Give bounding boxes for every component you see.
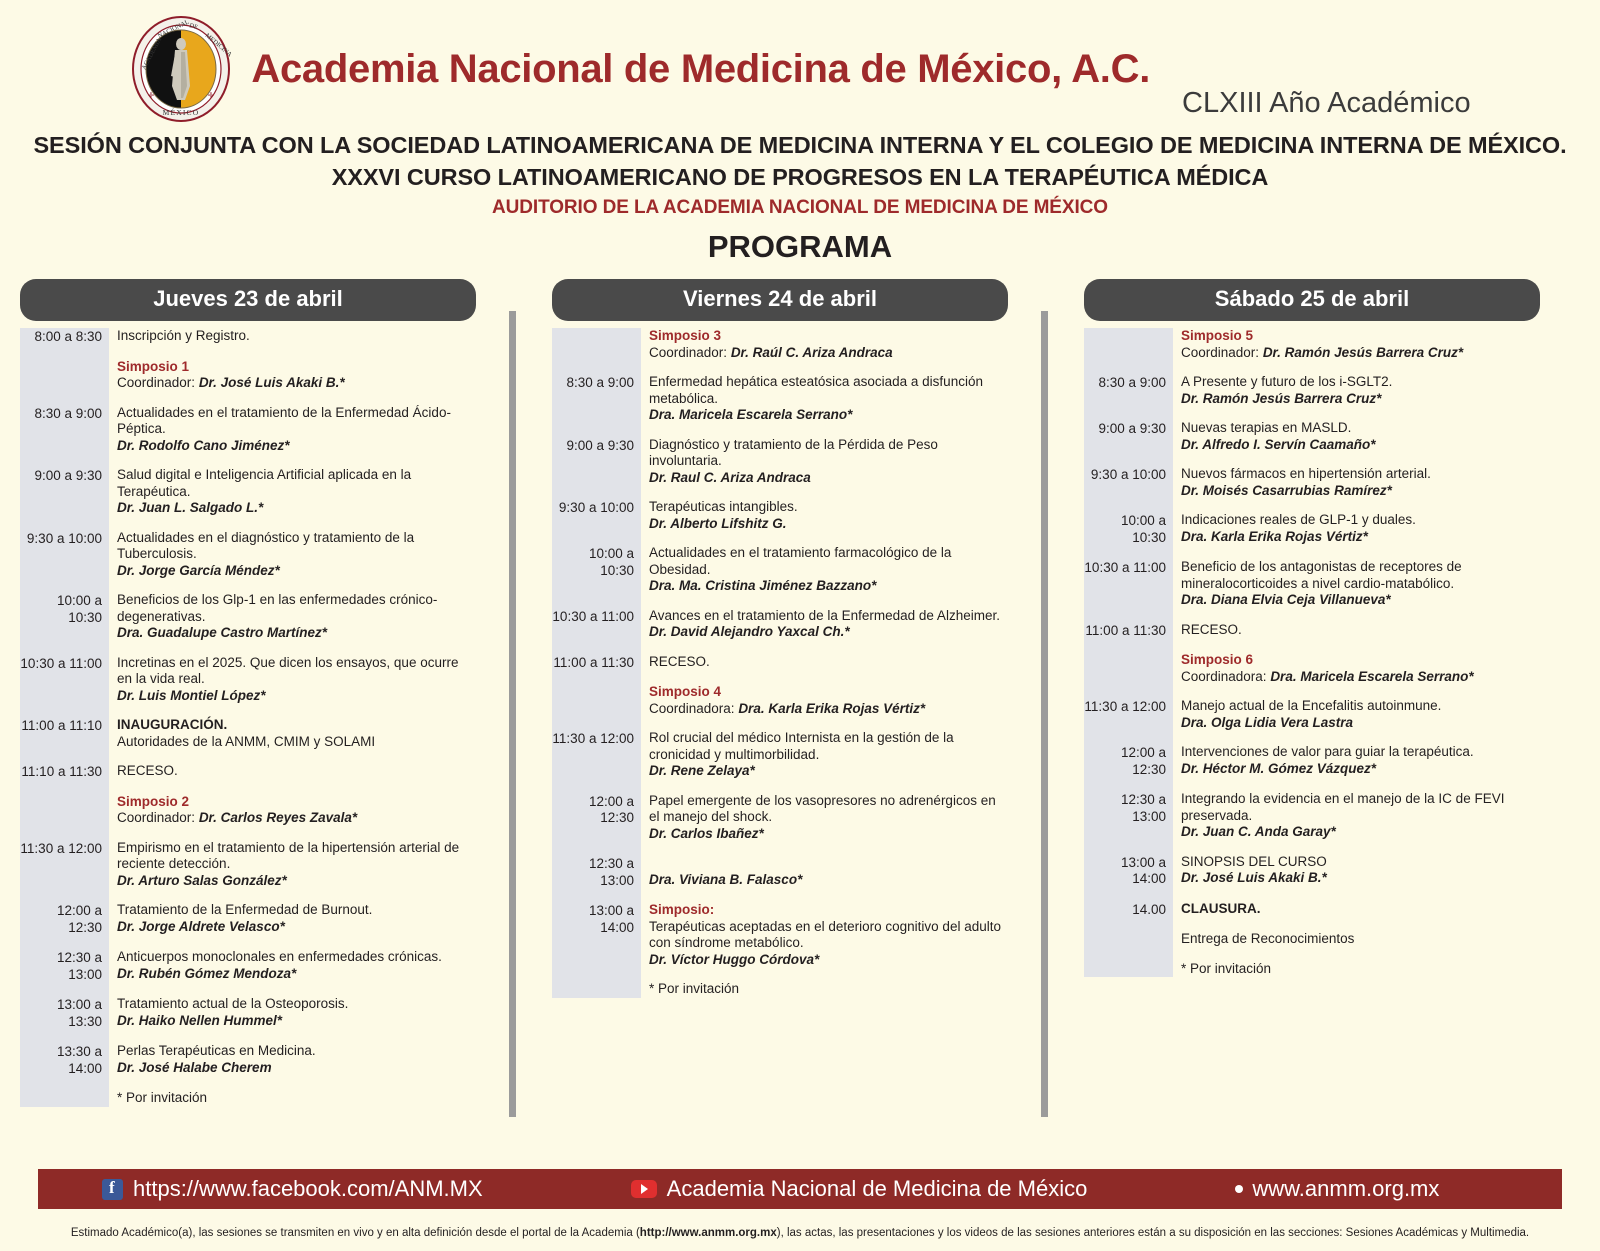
row-description: Nuevas terapias en MASLD.Dr. Alfredo I. … (1173, 420, 1540, 453)
coordinator-name: Dr. Carlos Reyes Zavala* (199, 810, 357, 825)
row-presenter: Dra. Olga Lidia Vera Lastra (1181, 715, 1540, 732)
schedule-row: 12:30 a 13:00Dra. Viviana B. Falasco* (552, 855, 1008, 889)
coordinator-line: Coordinador: Dr. Raúl C. Ariza Andraca (649, 345, 1008, 362)
footer-social-bar: https://www.facebook.com/ANM.MX Academia… (38, 1169, 1562, 1209)
simposio-label: Simposio 6 (1181, 652, 1540, 669)
schedule-row: 9:30 a 10:00Terapéuticas intangibles.Dr.… (552, 499, 1008, 532)
row-spacer (1084, 609, 1540, 622)
row-title: * Por invitación (117, 1090, 476, 1107)
row-title: Diagnóstico y tratamiento de la Pérdida … (649, 437, 1008, 470)
schedule-row: 12:30 a 13:00Integrando la evidencia en … (1084, 791, 1540, 841)
row-title-bold: INAUGURACIÓN. (117, 717, 476, 734)
row-time (552, 328, 641, 361)
row-description: Rol crucial del médico Internista en la … (641, 730, 1008, 780)
row-title-bold: CLAUSURA. (1181, 901, 1540, 918)
row-spacer (1084, 407, 1540, 420)
day-column-saturday: Sábado 25 de abril Simposio 5Coordinador… (1084, 279, 1540, 977)
row-title: Actualidades en el diagnóstico y tratami… (117, 530, 476, 563)
row-presenter: Dr. Juan L. Salgado L.* (117, 500, 476, 517)
row-presenter: Dra. Diana Elvia Ceja Villanueva* (1181, 592, 1540, 609)
row-presenter: Dr. Héctor M. Gómez Vázquez* (1181, 761, 1540, 778)
day-header-saturday: Sábado 25 de abril (1084, 279, 1540, 321)
schedule-row: 11:10 a 11:30RECESO. (20, 763, 476, 781)
row-description: Simposio 3Coordinador: Dr. Raúl C. Ariza… (641, 328, 1008, 361)
row-description: * Por invitación (109, 1090, 476, 1107)
row-time (1084, 961, 1173, 978)
row-spacer (552, 842, 1008, 855)
schedule-row: 10:30 a 11:00Beneficio de los antagonist… (1084, 559, 1540, 609)
schedule-row: Entrega de Reconocimientos (1084, 931, 1540, 948)
row-subtitle: Autoridades de la ANMM, CMIM y SOLAMI (117, 734, 476, 751)
row-title: Beneficios de los Glp-1 en las enfermeda… (117, 592, 476, 625)
row-description: Tratamiento de la Enfermedad de Burnout.… (109, 902, 476, 936)
row-spacer (1084, 918, 1540, 931)
row-time: 10:00 a 10:30 (20, 592, 109, 642)
row-spacer (20, 642, 476, 655)
row-time (20, 1090, 109, 1107)
row-presenter: Dr. Jorge Aldrete Velasco* (117, 919, 476, 936)
column-separator-1 (476, 279, 552, 1129)
schedule-row: 13:00 a 14:00Simposio:Terapéuticas acept… (552, 902, 1008, 968)
schedule-row: Simposio 5Coordinador: Dr. Ramón Jesús B… (1084, 328, 1540, 361)
row-description: Simposio:Terapéuticas aceptadas en el de… (641, 902, 1008, 968)
row-presenter: Dra. Maricela Escarela Serrano* (649, 407, 1008, 424)
row-presenter: Dr. Rubén Gómez Mendoza* (117, 966, 476, 983)
row-time: 9:00 a 9:30 (20, 467, 109, 517)
schedule-row: 8:00 a 8:30Inscripción y Registro. (20, 328, 476, 346)
row-title: Tratamiento de la Enfermedad de Burnout. (117, 902, 476, 919)
row-time: 11:30 a 12:00 (552, 730, 641, 780)
row-presenter: Dr. Víctor Huggo Córdova* (649, 952, 1008, 969)
session-line-1: SESIÓN CONJUNTA CON LA SOCIEDAD LATINOAM… (0, 132, 1600, 159)
row-title: Incretinas en el 2025. Que dicen los ens… (117, 655, 476, 688)
coordinator-name: Dra. Maricela Escarela Serrano* (1270, 669, 1473, 684)
simposio-label: Simposio 5 (1181, 328, 1540, 345)
row-description: Dra. Viviana B. Falasco* (641, 855, 1008, 889)
row-time: 10:00 a 10:30 (1084, 512, 1173, 546)
coordinator-name: Dr. José Luis Akaki B.* (199, 375, 345, 390)
simposio-label: Simposio 2 (117, 794, 476, 811)
row-description: RECESO. (109, 763, 476, 781)
schedule-row: 13:30 a 14:00Perlas Terapéuticas en Medi… (20, 1043, 476, 1077)
row-description: Actualidades en el tratamiento farmacoló… (641, 545, 1008, 595)
row-description: Papel emergente de los vasopresores no a… (641, 793, 1008, 843)
row-description: Beneficios de los Glp-1 en las enfermeda… (109, 592, 476, 642)
row-description: Entrega de Reconocimientos (1173, 931, 1540, 948)
row-presenter: Dr. Raul C. Ariza Andraca (649, 470, 1008, 487)
row-time: 9:30 a 10:00 (20, 530, 109, 580)
row-time: 12:30 a 13:00 (1084, 791, 1173, 841)
session-line-2: XXXVI CURSO LATINOAMERICANO DE PROGRESOS… (0, 164, 1600, 191)
row-description: RECESO. (1173, 622, 1540, 640)
schedule-row: 10:00 a 10:30Indicaciones reales de GLP-… (1084, 512, 1540, 546)
row-title: Terapéuticas intangibles. (649, 499, 1008, 516)
row-time: 13:00 a 13:30 (20, 996, 109, 1030)
row-description: Enfermedad hepática esteatósica asociada… (641, 374, 1008, 424)
row-spacer (1084, 888, 1540, 901)
row-spacer (20, 889, 476, 902)
simposio-label: Simposio 4 (649, 684, 1008, 701)
schedule-row: 12:30 a 13:00Anticuerpos monoclonales en… (20, 949, 476, 983)
row-presenter: Dr. Carlos Ibañez* (649, 826, 1008, 843)
row-spacer (1084, 685, 1540, 698)
day-header-thursday: Jueves 23 de abril (20, 279, 476, 321)
row-description: Avances en el tratamiento de la Enfermed… (641, 608, 1008, 641)
schedule-row: Simposio 4Coordinadora: Dra. Karla Erika… (552, 684, 1008, 717)
facebook-url: https://www.facebook.com/ANM.MX (133, 1176, 483, 1202)
row-description: Tratamiento actual de la Osteoporosis.Dr… (109, 996, 476, 1030)
row-time (552, 684, 641, 717)
row-title: Empirismo en el tratamiento de la hipert… (117, 840, 476, 873)
row-spacer (20, 1077, 476, 1090)
row-title: SINOPSIS DEL CURSO (1181, 854, 1540, 871)
row-time (552, 981, 641, 998)
row-time (1084, 652, 1173, 685)
row-title: RECESO. (649, 654, 1008, 671)
schedule-row: 11:30 a 12:00Rol crucial del médico Inte… (552, 730, 1008, 780)
schedule-row: 9:30 a 10:00Nuevos fármacos en hipertens… (1084, 466, 1540, 499)
row-time: 13:00 a 14:00 (1084, 854, 1173, 888)
row-description: RECESO. (641, 654, 1008, 672)
row-title: Indicaciones reales de GLP-1 y duales. (1181, 512, 1540, 529)
row-description: Incretinas en el 2025. Que dicen los ens… (109, 655, 476, 705)
row-title: * Por invitación (649, 981, 1008, 998)
schedule-row: 13:00 a 14:00SINOPSIS DEL CURSODr. José … (1084, 854, 1540, 888)
coordinator-line: Coordinador: Dr. Ramón Jesús Barrera Cru… (1181, 345, 1540, 362)
row-description: CLAUSURA. (1173, 901, 1540, 919)
row-time: 12:30 a 13:00 (552, 855, 641, 889)
coordinator-name: Dr. Raúl C. Ariza Andraca (731, 345, 893, 360)
youtube-label: Academia Nacional de Medicina de México (667, 1176, 1088, 1202)
row-spacer (20, 983, 476, 996)
row-presenter: Dr. José Luis Akaki B.* (1181, 870, 1540, 887)
row-description: Terapéuticas intangibles.Dr. Alberto Lif… (641, 499, 1008, 532)
row-time: 12:00 a 12:30 (552, 793, 641, 843)
row-time (20, 794, 109, 827)
schedule-row: Simposio 2Coordinador: Dr. Carlos Reyes … (20, 794, 476, 827)
bullet-dot-icon (1235, 1185, 1243, 1193)
coordinator-line: Coordinador: Dr. Carlos Reyes Zavala* (117, 810, 476, 827)
row-time (20, 359, 109, 392)
schedule-row: 9:00 a 9:30Salud digital e Inteligencia … (20, 467, 476, 517)
row-description: Simposio 4Coordinadora: Dra. Karla Erika… (641, 684, 1008, 717)
row-spacer (20, 1030, 476, 1043)
row-time: 12:00 a 12:30 (1084, 744, 1173, 778)
row-title: Salud digital e Inteligencia Artificial … (117, 467, 476, 500)
row-presenter: Dr. Rene Zelaya* (649, 763, 1008, 780)
schedule-row: 11:30 a 12:00Manejo actual de la Encefal… (1084, 698, 1540, 731)
row-time: 11:00 a 11:30 (552, 654, 641, 672)
schedule-row: 12:00 a 12:30Tratamiento de la Enfermeda… (20, 902, 476, 936)
row-presenter: Dr. Luis Montiel López* (117, 688, 476, 705)
row-spacer (552, 968, 1008, 981)
schedule-row: 10:00 a 10:30Actualidades en el tratamie… (552, 545, 1008, 595)
academy-seal-logo: MÉXICO ACADEMIA NACIONAL DE MEDICINA ✛ ✛ (129, 14, 233, 124)
row-description: Manejo actual de la Encefalitis autoinmu… (1173, 698, 1540, 731)
schedule-row: 8:30 a 9:00A Presente y futuro de los i-… (1084, 374, 1540, 407)
row-spacer (552, 486, 1008, 499)
schedule-row: * Por invitación (20, 1090, 476, 1107)
row-time: 8:30 a 9:00 (1084, 374, 1173, 407)
row-spacer (20, 454, 476, 467)
coordinator-line: Coordinadora: Dra. Karla Erika Rojas Vér… (649, 701, 1008, 718)
svg-text:✛: ✛ (208, 91, 215, 100)
row-time: 11:00 a 11:30 (1084, 622, 1173, 640)
schedule-row: Simposio 1Coordinador: Dr. José Luis Aka… (20, 359, 476, 392)
row-title: Avances en el tratamiento de la Enfermed… (649, 608, 1008, 625)
row-description: Nuevos fármacos en hipertensión arterial… (1173, 466, 1540, 499)
footer-youtube[interactable]: Academia Nacional de Medicina de México (631, 1176, 1088, 1202)
row-time: 13:00 a 14:00 (552, 902, 641, 968)
row-description: Empirismo en el tratamiento de la hipert… (109, 840, 476, 890)
row-title: Integrando la evidencia en el manejo de … (1181, 791, 1540, 824)
row-spacer (1084, 499, 1540, 512)
footer-website[interactable]: www.anmm.org.mx (1235, 1176, 1439, 1202)
row-description: Intervenciones de valor para guiar la te… (1173, 744, 1540, 778)
row-time: 13:30 a 14:00 (20, 1043, 109, 1077)
row-time: 11:30 a 12:00 (1084, 698, 1173, 731)
row-description: INAUGURACIÓN.Autoridades de la ANMM, CMI… (109, 717, 476, 750)
coordinator-name: Dr. Ramón Jesús Barrera Cruz* (1263, 345, 1463, 360)
simposio-label: Simposio 3 (649, 328, 1008, 345)
page-header: MÉXICO ACADEMIA NACIONAL DE MEDICINA ✛ ✛… (0, 0, 1600, 124)
page-title: PROGRAMA (0, 229, 1600, 265)
row-time: 14.00 (1084, 901, 1173, 919)
schedule-row: 8:30 a 9:00Enfermedad hepática esteatósi… (552, 374, 1008, 424)
schedule-row: 13:00 a 13:30Tratamiento actual de la Os… (20, 996, 476, 1030)
program-columns: Jueves 23 de abril 8:00 a 8:30Inscripció… (0, 279, 1600, 1129)
row-spacer (20, 750, 476, 763)
facebook-icon (102, 1179, 123, 1200)
schedule-row: 10:00 a 10:30Beneficios de los Glp-1 en … (20, 592, 476, 642)
row-title: Manejo actual de la Encefalitis autoinmu… (1181, 698, 1540, 715)
row-presenter: Dr. José Halabe Cherem (117, 1060, 476, 1077)
row-presenter: Dr. Juan C. Anda Garay* (1181, 824, 1540, 841)
youtube-icon (631, 1180, 657, 1198)
row-title: Intervenciones de valor para guiar la te… (1181, 744, 1540, 761)
row-presenter: Dr. Alberto Lifshitz G. (649, 516, 1008, 533)
row-time: 10:30 a 11:00 (20, 655, 109, 705)
disclaimer-url: http://www.anmm.org.mx (640, 1227, 777, 1239)
row-time: 11:10 a 11:30 (20, 763, 109, 781)
row-title: * Por invitación (1181, 961, 1540, 978)
schedule-row: 11:00 a 11:10INAUGURACIÓN.Autoridades de… (20, 717, 476, 750)
row-description: Simposio 5Coordinador: Dr. Ramón Jesús B… (1173, 328, 1540, 361)
row-spacer (552, 717, 1008, 730)
coordinator-name: Dra. Karla Erika Rojas Vértiz* (738, 701, 925, 716)
schedule-row: 10:30 a 11:00Incretinas en el 2025. Que … (20, 655, 476, 705)
row-spacer (1084, 731, 1540, 744)
row-spacer (552, 595, 1008, 608)
schedule-list-saturday: Simposio 5Coordinador: Dr. Ramón Jesús B… (1084, 328, 1540, 977)
schedule-row: 14.00CLAUSURA. (1084, 901, 1540, 919)
row-presenter: Dr. Arturo Salas González* (117, 873, 476, 890)
disclaimer-part-c: ), las actas, las presentaciones y los v… (777, 1227, 1529, 1239)
row-time: 11:00 a 11:10 (20, 717, 109, 750)
coordinator-line: Coordinadora: Dra. Maricela Escarela Ser… (1181, 669, 1540, 686)
row-time: 8:30 a 9:00 (20, 405, 109, 455)
row-time (1084, 328, 1173, 361)
website-url: www.anmm.org.mx (1252, 1176, 1439, 1202)
row-spacer (552, 361, 1008, 374)
academy-name: Academia Nacional de Medicina de México,… (251, 47, 1150, 92)
row-title: Terapéuticas aceptadas en el deterioro c… (649, 919, 1008, 952)
row-title: Inscripción y Registro. (117, 328, 476, 345)
row-title: Nuevas terapias en MASLD. (1181, 420, 1540, 437)
row-description: Perlas Terapéuticas en Medicina.Dr. José… (109, 1043, 476, 1077)
row-time (1084, 931, 1173, 948)
row-time: 12:30 a 13:00 (20, 949, 109, 983)
academic-year: CLXIII Año Académico (1182, 87, 1471, 124)
row-time: 9:30 a 10:00 (1084, 466, 1173, 499)
row-spacer (20, 781, 476, 794)
row-description: Simposio 1Coordinador: Dr. José Luis Aka… (109, 359, 476, 392)
row-spacer (1084, 948, 1540, 961)
day-column-friday: Viernes 24 de abril Simposio 3Coordinado… (552, 279, 1008, 998)
row-spacer (20, 827, 476, 840)
row-title: RECESO. (117, 763, 476, 780)
row-spacer (20, 346, 476, 359)
row-title: Anticuerpos monoclonales en enfermedades… (117, 949, 476, 966)
row-spacer (1084, 361, 1540, 374)
row-description: Actualidades en el tratamiento de la Enf… (109, 405, 476, 455)
row-spacer (1084, 778, 1540, 791)
schedule-row: 11:30 a 12:00Empirismo en el tratamiento… (20, 840, 476, 890)
schedule-row: Simposio 3Coordinador: Dr. Raúl C. Ariza… (552, 328, 1008, 361)
row-description: * Por invitación (641, 981, 1008, 998)
simposio-label: Simposio: (649, 902, 1008, 919)
row-presenter: Dr. Rodolfo Cano Jiménez* (117, 438, 476, 455)
row-title: Beneficio de los antagonistas de recepto… (1181, 559, 1540, 592)
row-title: Papel emergente de los vasopresores no a… (649, 793, 1008, 826)
schedule-list-thursday: 8:00 a 8:30Inscripción y Registro.Simpos… (20, 328, 476, 1107)
schedule-row: * Por invitación (1084, 961, 1540, 978)
row-title: Entrega de Reconocimientos (1181, 931, 1540, 948)
day-column-thursday: Jueves 23 de abril 8:00 a 8:30Inscripció… (20, 279, 476, 1107)
row-description: Diagnóstico y tratamiento de la Pérdida … (641, 437, 1008, 487)
row-presenter: Dr. Ramón Jesús Barrera Cruz* (1181, 391, 1540, 408)
row-description: * Por invitación (1173, 961, 1540, 978)
row-title: A Presente y futuro de los i-SGLT2. (1181, 374, 1540, 391)
row-time: 10:30 a 11:00 (552, 608, 641, 641)
row-spacer (552, 532, 1008, 545)
svg-text:MÉXICO: MÉXICO (163, 107, 200, 117)
schedule-row: 12:00 a 12:30Intervenciones de valor par… (1084, 744, 1540, 778)
row-spacer (1084, 546, 1540, 559)
row-title: Tratamiento actual de la Osteoporosis. (117, 996, 476, 1013)
schedule-row: 11:00 a 11:30RECESO. (552, 654, 1008, 672)
row-spacer (552, 780, 1008, 793)
row-time: 12:00 a 12:30 (20, 902, 109, 936)
coordinator-line: Coordinador: Dr. José Luis Akaki B.* (117, 375, 476, 392)
schedule-row: 12:00 a 12:30Papel emergente de los vaso… (552, 793, 1008, 843)
row-presenter: Dra. Viviana B. Falasco* (649, 872, 1008, 889)
row-title: Nuevos fármacos en hipertensión arterial… (1181, 466, 1540, 483)
row-time: 11:30 a 12:00 (20, 840, 109, 890)
row-time: 8:30 a 9:00 (552, 374, 641, 424)
schedule-row: 11:00 a 11:30RECESO. (1084, 622, 1540, 640)
row-title: Rol crucial del médico Internista en la … (649, 730, 1008, 763)
row-spacer (1084, 453, 1540, 466)
schedule-row: Simposio 6Coordinadora: Dra. Maricela Es… (1084, 652, 1540, 685)
row-presenter: Dra. Ma. Cristina Jiménez Bazzano* (649, 578, 1008, 595)
row-title: RECESO. (1181, 622, 1540, 639)
schedule-row: 9:00 a 9:30Diagnóstico y tratamiento de … (552, 437, 1008, 487)
row-presenter: Dra. Guadalupe Castro Martínez* (117, 625, 476, 642)
row-spacer (20, 704, 476, 717)
row-description: Integrando la evidencia en el manejo de … (1173, 791, 1540, 841)
venue-line: AUDITORIO DE LA ACADEMIA NACIONAL DE MED… (0, 197, 1600, 219)
disclaimer-part-a: Estimado Académico(a), las sesiones se t… (71, 1227, 640, 1239)
row-presenter: Dra. Karla Erika Rojas Vértiz* (1181, 529, 1540, 546)
row-time: 9:00 a 9:30 (1084, 420, 1173, 453)
day-header-friday: Viernes 24 de abril (552, 279, 1008, 321)
schedule-row: * Por invitación (552, 981, 1008, 998)
row-presenter: Dr. Alfredo I. Servín Caamaño* (1181, 437, 1540, 454)
row-description: Actualidades en el diagnóstico y tratami… (109, 530, 476, 580)
row-spacer (20, 517, 476, 530)
row-spacer (20, 579, 476, 592)
row-time: 9:30 a 10:00 (552, 499, 641, 532)
footer-disclaimer: Estimado Académico(a), las sesiones se t… (0, 1227, 1600, 1239)
row-description: Simposio 2Coordinador: Dr. Carlos Reyes … (109, 794, 476, 827)
row-blank-line (649, 855, 1008, 872)
row-spacer (552, 641, 1008, 654)
row-description: Salud digital e Inteligencia Artificial … (109, 467, 476, 517)
row-spacer (1084, 639, 1540, 652)
row-description: A Presente y futuro de los i-SGLT2.Dr. R… (1173, 374, 1540, 407)
row-description: Simposio 6Coordinadora: Dra. Maricela Es… (1173, 652, 1540, 685)
row-spacer (1084, 841, 1540, 854)
row-title: Actualidades en el tratamiento de la Enf… (117, 405, 476, 438)
row-description: Anticuerpos monoclonales en enfermedades… (109, 949, 476, 983)
row-spacer (20, 936, 476, 949)
row-presenter: Dr. Haiko Nellen Hummel* (117, 1013, 476, 1030)
row-title: Enfermedad hepática esteatósica asociada… (649, 374, 1008, 407)
schedule-row: 10:30 a 11:00Avances en el tratamiento d… (552, 608, 1008, 641)
row-description: SINOPSIS DEL CURSODr. José Luis Akaki B.… (1173, 854, 1540, 888)
row-description: Inscripción y Registro. (109, 328, 476, 346)
row-description: Beneficio de los antagonistas de recepto… (1173, 559, 1540, 609)
row-time: 8:00 a 8:30 (20, 328, 109, 346)
schedule-row: 9:30 a 10:00Actualidades en el diagnósti… (20, 530, 476, 580)
row-title: Perlas Terapéuticas en Medicina. (117, 1043, 476, 1060)
event-title-block: SESIÓN CONJUNTA CON LA SOCIEDAD LATINOAM… (0, 132, 1600, 265)
row-spacer (552, 671, 1008, 684)
row-presenter: Dr. Jorge García Méndez* (117, 563, 476, 580)
schedule-row: 9:00 a 9:30Nuevas terapias en MASLD.Dr. … (1084, 420, 1540, 453)
svg-text:✛: ✛ (148, 91, 155, 100)
row-time: 9:00 a 9:30 (552, 437, 641, 487)
row-spacer (552, 424, 1008, 437)
schedule-row: 8:30 a 9:00Actualidades en el tratamient… (20, 405, 476, 455)
row-description: Indicaciones reales de GLP-1 y duales.Dr… (1173, 512, 1540, 546)
row-time: 10:30 a 11:00 (1084, 559, 1173, 609)
simposio-label: Simposio 1 (117, 359, 476, 376)
schedule-list-friday: Simposio 3Coordinador: Dr. Raúl C. Ariza… (552, 328, 1008, 998)
row-presenter: Dr. Moisés Casarrubias Ramírez* (1181, 483, 1540, 500)
row-presenter: Dr. David Alejandro Yaxcal Ch.* (649, 624, 1008, 641)
footer-facebook[interactable]: https://www.facebook.com/ANM.MX (102, 1176, 483, 1202)
row-spacer (552, 889, 1008, 902)
row-spacer (20, 392, 476, 405)
row-title: Actualidades en el tratamiento farmacoló… (649, 545, 1008, 578)
column-separator-2 (1008, 279, 1084, 1129)
row-time: 10:00 a 10:30 (552, 545, 641, 595)
